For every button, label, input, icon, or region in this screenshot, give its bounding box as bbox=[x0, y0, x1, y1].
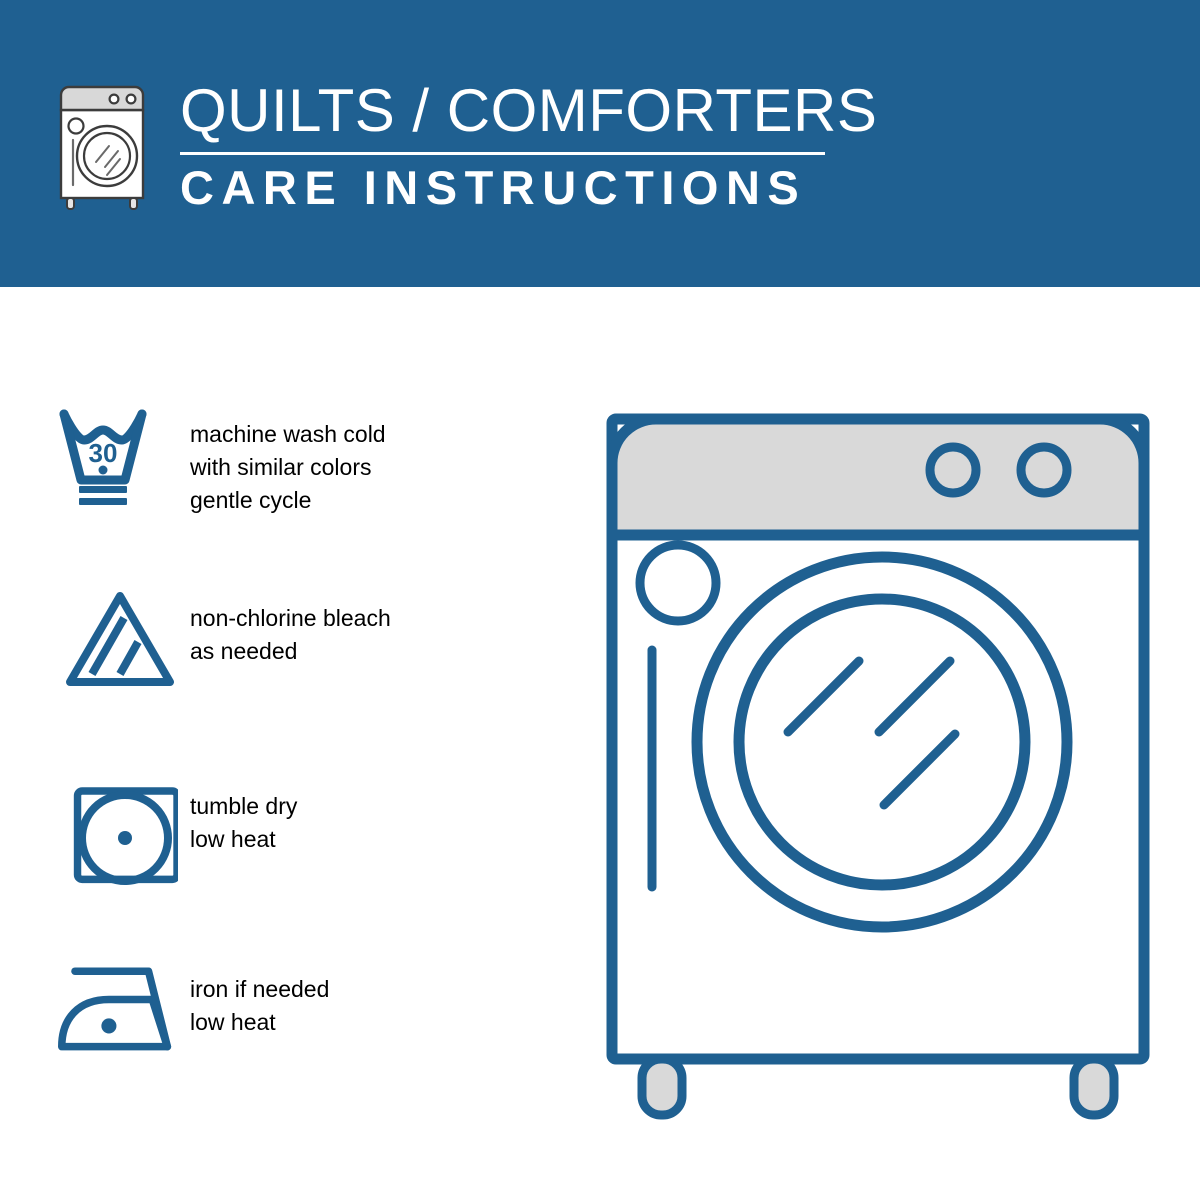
header-banner: QUILTS / COMFORTERS CARE INSTRUCTIONS bbox=[0, 0, 1200, 287]
wash-tub-30-gentle-icon: 30 bbox=[58, 400, 178, 510]
care-icon-slot: 30 bbox=[0, 400, 190, 510]
logo-knob-icon bbox=[110, 95, 119, 104]
care-text-iron: iron if needed low heat bbox=[190, 953, 329, 1039]
care-icon-slot bbox=[0, 778, 190, 888]
care-text-tumble-dry: tumble dry low heat bbox=[190, 778, 297, 856]
washer-dispenser-icon bbox=[640, 545, 716, 621]
dryer-heat-dot bbox=[118, 831, 132, 845]
care-text-machine-wash: machine wash cold with similar colors ge… bbox=[190, 400, 386, 517]
gentle-cycle-bar bbox=[79, 498, 127, 505]
page-title: QUILTS / COMFORTERS bbox=[180, 80, 877, 142]
tumble-dry-low-heat-icon bbox=[58, 778, 178, 888]
washer-foot bbox=[642, 1059, 682, 1115]
care-icon-slot bbox=[0, 953, 190, 1063]
bleach-stripe bbox=[120, 642, 138, 674]
page-subtitle: CARE INSTRUCTIONS bbox=[180, 163, 877, 213]
care-row-tumble-dry: tumble dry low heat bbox=[0, 778, 560, 888]
bleach-stripe bbox=[92, 618, 124, 674]
washing-machine-icon bbox=[52, 82, 156, 214]
care-row-bleach: non-chlorine bleach as needed bbox=[0, 582, 560, 692]
washer-knob-icon[interactable] bbox=[1021, 447, 1067, 493]
wash-temperature-label: 30 bbox=[89, 438, 118, 468]
washer-foot bbox=[1074, 1059, 1114, 1115]
care-text-bleach: non-chlorine bleach as needed bbox=[190, 582, 391, 668]
title-divider bbox=[180, 152, 825, 155]
header-content: QUILTS / COMFORTERS CARE INSTRUCTIONS bbox=[52, 78, 877, 214]
iron-low-heat-icon bbox=[58, 953, 190, 1063]
header-title-group: QUILTS / COMFORTERS CARE INSTRUCTIONS bbox=[180, 78, 877, 213]
care-row-iron: iron if needed low heat bbox=[0, 953, 560, 1063]
care-row-machine-wash: 30 machine wash cold with similar colors… bbox=[0, 400, 560, 517]
wash-dot-icon bbox=[99, 466, 108, 475]
washer-door-inner-ring bbox=[739, 599, 1025, 885]
gentle-cycle-bar bbox=[79, 486, 127, 493]
care-icon-slot bbox=[0, 582, 190, 692]
front-load-washing-machine-illustration bbox=[596, 405, 1156, 1125]
logo-knob-icon bbox=[127, 95, 136, 104]
washer-knob-icon[interactable] bbox=[930, 447, 976, 493]
non-chlorine-bleach-triangle-icon bbox=[58, 582, 178, 692]
iron-heat-dot bbox=[101, 1018, 116, 1033]
